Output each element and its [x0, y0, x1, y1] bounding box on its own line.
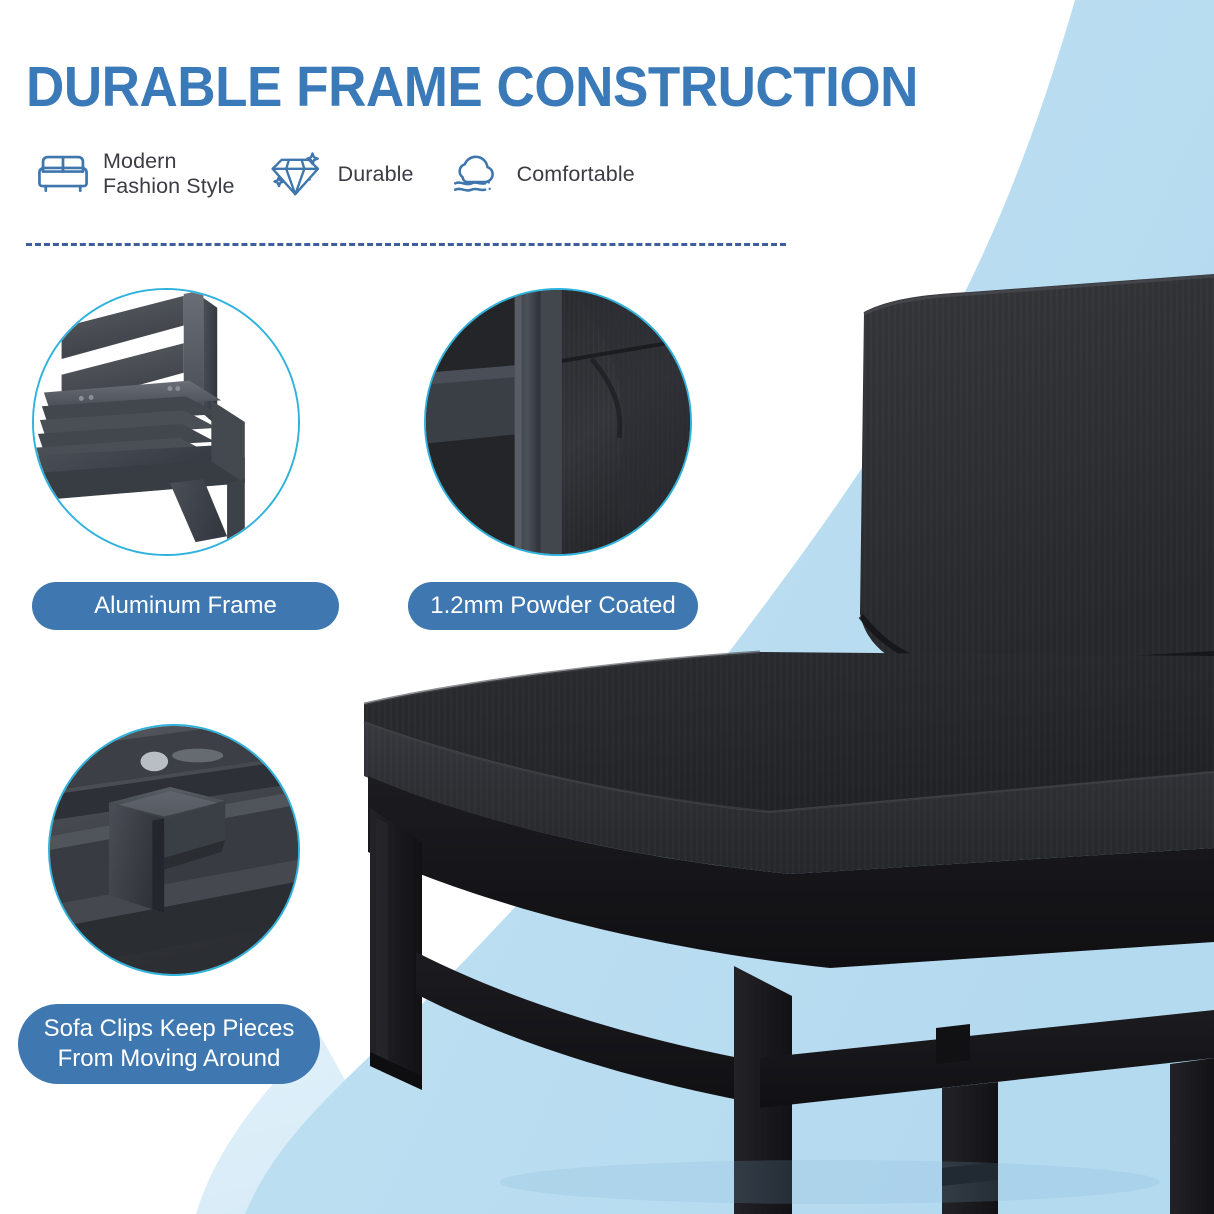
- feature-item-modern-fashion-style: Modern Fashion Style: [34, 148, 235, 200]
- callout-label-aluminum-frame: Aluminum Frame: [32, 582, 339, 630]
- dashed-divider: [26, 243, 786, 246]
- callout-label-powder-coated: 1.2mm Powder Coated: [408, 582, 698, 630]
- callout-image-sofa-clips: [48, 724, 300, 976]
- infographic-page: DURABLE FRAME CONSTRUCTION Modern Fashio…: [0, 0, 1214, 1214]
- cloud-comfort-icon: [448, 148, 506, 200]
- feature-label-modern-fashion-style: Modern Fashion Style: [103, 149, 235, 199]
- feature-label-durable: Durable: [338, 162, 414, 187]
- feature-item-durable: Durable: [269, 148, 414, 200]
- callout-image-aluminum-frame: [32, 288, 300, 556]
- callout-powder-coated: 1.2mm Powder Coated: [424, 288, 698, 630]
- diamond-icon: [269, 148, 327, 200]
- page-title: DURABLE FRAME CONSTRUCTION: [26, 56, 918, 118]
- callout-aluminum-frame: Aluminum Frame: [32, 288, 339, 630]
- feature-list: Modern Fashion Style Durable: [34, 148, 635, 200]
- callout-label-sofa-clips: Sofa Clips Keep Pieces From Moving Aroun…: [18, 1004, 320, 1084]
- feature-label-comfortable: Comfortable: [517, 162, 635, 187]
- callout-sofa-clips: Sofa Clips Keep Pieces From Moving Aroun…: [48, 724, 320, 1084]
- feature-item-comfortable: Comfortable: [448, 148, 635, 200]
- callout-image-powder-coated: [424, 288, 692, 556]
- sofa-icon: [34, 148, 92, 200]
